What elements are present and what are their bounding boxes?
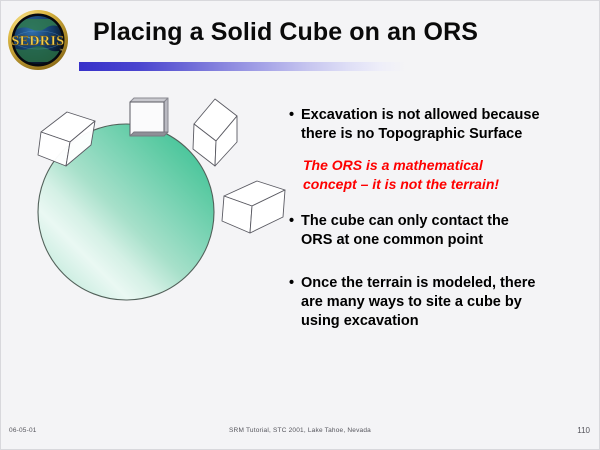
cube-top xyxy=(130,98,168,136)
svg-text:™: ™ xyxy=(59,48,64,53)
bullet-line: are many ways to site a cube by xyxy=(301,293,589,312)
cube-upper-right xyxy=(193,99,237,166)
footer-page-number: 110 xyxy=(577,426,590,435)
bullet-line: using excavation xyxy=(301,312,589,331)
slide-footer: 06-05-01 SRM Tutorial, STC 2001, Lake Ta… xyxy=(1,427,599,441)
slide: SEDRIS ™ Placing a Solid Cube on an ORS xyxy=(0,0,600,450)
ors-sphere-diagram xyxy=(19,89,299,319)
title-underline-bar xyxy=(79,62,406,71)
ors-diagram-svg xyxy=(19,89,299,319)
bullet-line: The cube can only contact the xyxy=(301,212,589,231)
svg-text:SEDRIS: SEDRIS xyxy=(12,34,65,49)
footer-event-text: SRM Tutorial, STC 2001, Lake Tahoe, Neva… xyxy=(1,427,599,434)
note-line: The ORS is a mathematical xyxy=(303,156,589,175)
bullet-item-1: • Excavation is not allowed because ther… xyxy=(289,106,589,144)
cube-right xyxy=(222,181,285,233)
bullet-item-2: • The cube can only contact the ORS at o… xyxy=(289,212,589,250)
note-line: concept – it is not the terrain! xyxy=(303,175,589,194)
bullet-item-3: • Once the terrain is modeled, there are… xyxy=(289,274,589,331)
sedris-logo: SEDRIS ™ xyxy=(7,9,69,71)
bullet-marker: • xyxy=(289,106,294,125)
bullet-marker: • xyxy=(289,212,294,231)
bullet-marker: • xyxy=(289,274,294,293)
page-title: Placing a Solid Cube on an ORS xyxy=(93,19,583,47)
bullet-line: there is no Topographic Surface xyxy=(301,125,589,144)
bullet-line: ORS at one common point xyxy=(301,231,589,250)
emphasis-note: The ORS is a mathematical concept – it i… xyxy=(289,156,589,194)
bullet-list: • Excavation is not allowed because ther… xyxy=(289,106,589,347)
bullet-line: Excavation is not allowed because xyxy=(301,106,589,125)
bullet-line: Once the terrain is modeled, there xyxy=(301,274,589,293)
sedris-logo-icon: SEDRIS ™ xyxy=(7,9,69,71)
